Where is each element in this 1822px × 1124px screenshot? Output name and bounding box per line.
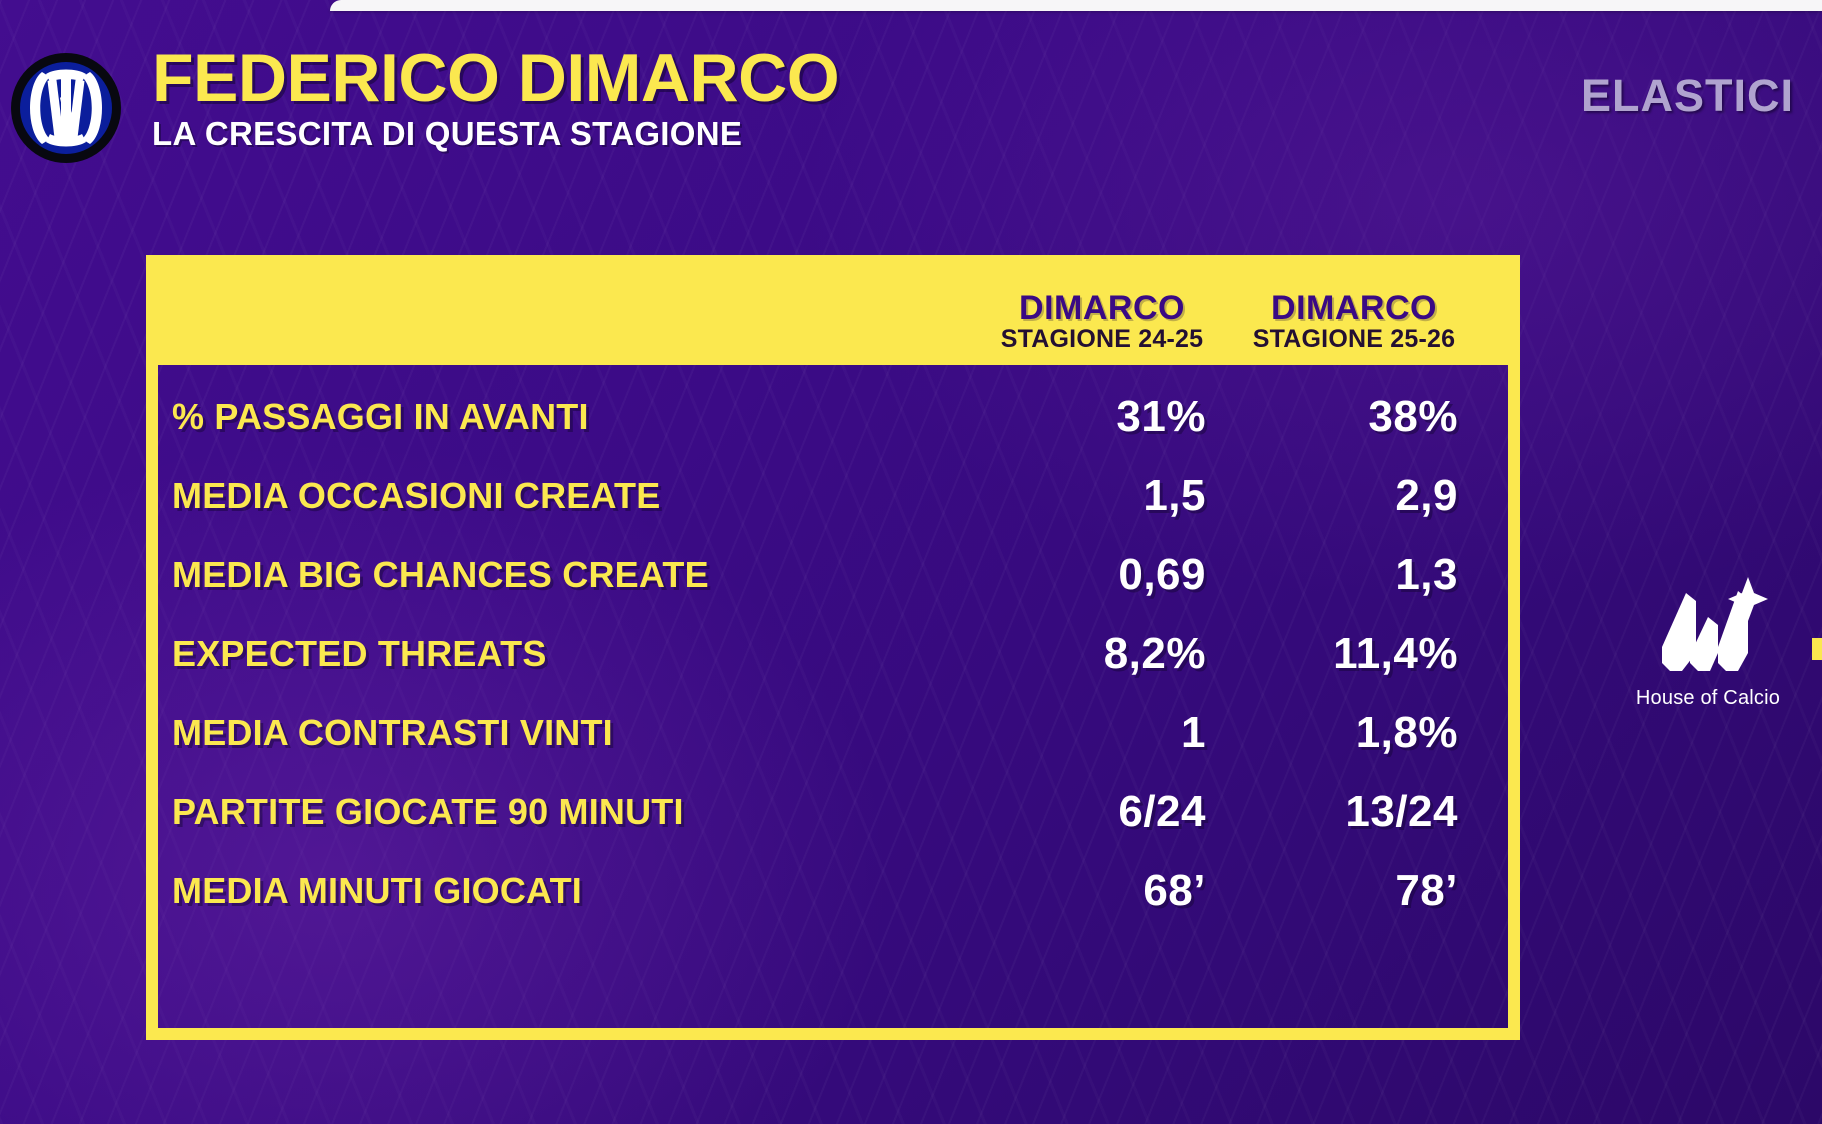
title-block: FEDERICO DIMARCO LA CRESCITA DI QUESTA S…: [152, 46, 839, 150]
stat-value-2526: 13/24: [1230, 787, 1482, 837]
stat-label: % PASSAGGI IN AVANTI: [172, 396, 978, 438]
stat-value-2425: 68’: [978, 866, 1230, 916]
house-of-calcio-mark-icon: [1642, 575, 1774, 685]
stats-table: DIMARCO STAGIONE 24-25 DIMARCO STAGIONE …: [146, 255, 1520, 1040]
column-header-season-2425: DIMARCO STAGIONE 24-25: [976, 291, 1228, 366]
table-frame-left: [146, 255, 158, 365]
stat-value-2526: 11,4%: [1230, 629, 1482, 679]
inter-milan-crest-icon: [10, 52, 122, 164]
stat-value-2425: 1,5: [978, 471, 1230, 521]
edge-accent-chip: [1812, 638, 1822, 660]
house-of-calcio-label: House of Calcio: [1618, 687, 1798, 710]
stat-value-2526: 1,3: [1230, 550, 1482, 600]
column-header-subtitle: STAGIONE 25-26: [1228, 326, 1480, 354]
stat-value-2425: 1: [978, 708, 1230, 758]
stat-label: MEDIA OCCASIONI CREATE: [172, 475, 978, 517]
stat-label: MEDIA CONTRASTI VINTI: [172, 712, 978, 754]
stat-value-2425: 6/24: [978, 787, 1230, 837]
table-row: MEDIA BIG CHANCES CREATE 0,69 1,3: [158, 535, 1508, 614]
stat-value-2526: 78’: [1230, 866, 1482, 916]
column-header-subtitle: STAGIONE 24-25: [976, 326, 1228, 354]
column-header-title: DIMARCO: [1228, 291, 1480, 325]
stat-label: MEDIA BIG CHANCES CREATE: [172, 554, 978, 596]
stat-value-2425: 0,69: [978, 550, 1230, 600]
table-row: % PASSAGGI IN AVANTI 31% 38%: [158, 377, 1508, 456]
table-row: PARTITE GIOCATE 90 MINUTI 6/24 13/24: [158, 772, 1508, 851]
column-header-title: DIMARCO: [976, 291, 1228, 325]
table-row: MEDIA CONTRASTI VINTI 1 1,8%: [158, 693, 1508, 772]
stat-value-2526: 38%: [1230, 392, 1482, 442]
page-title: FEDERICO DIMARCO: [152, 46, 839, 111]
page-subtitle: LA CRESCITA DI QUESTA STAGIONE: [152, 117, 839, 150]
player-chrome-strip: [330, 0, 1822, 11]
stat-label: PARTITE GIOCATE 90 MINUTI: [172, 791, 978, 833]
table-frame-right: [1508, 255, 1520, 365]
table-row: MEDIA OCCASIONI CREATE 1,5 2,9: [158, 456, 1508, 535]
house-of-calcio-logo: House of Calcio: [1618, 575, 1798, 710]
table-header-row: DIMARCO STAGIONE 24-25 DIMARCO STAGIONE …: [146, 255, 1520, 365]
stat-label: EXPECTED THREATS: [172, 633, 978, 675]
column-header-season-2526: DIMARCO STAGIONE 25-26: [1228, 291, 1480, 366]
stat-value-2526: 2,9: [1230, 471, 1482, 521]
stat-value-2526: 1,8%: [1230, 708, 1482, 758]
stat-label: MEDIA MINUTI GIOCATI: [172, 870, 978, 912]
stat-value-2425: 31%: [978, 392, 1230, 442]
table-row: MEDIA MINUTI GIOCATI 68’ 78’: [158, 851, 1508, 930]
stat-value-2425: 8,2%: [978, 629, 1230, 679]
header: FEDERICO DIMARCO LA CRESCITA DI QUESTA S…: [0, 40, 1822, 180]
table-body: % PASSAGGI IN AVANTI 31% 38% MEDIA OCCAS…: [146, 365, 1520, 1040]
infographic-canvas: FEDERICO DIMARCO LA CRESCITA DI QUESTA S…: [0, 0, 1822, 1124]
table-row: EXPECTED THREATS 8,2% 11,4%: [158, 614, 1508, 693]
elastici-watermark: ELASTICI: [1581, 70, 1794, 122]
